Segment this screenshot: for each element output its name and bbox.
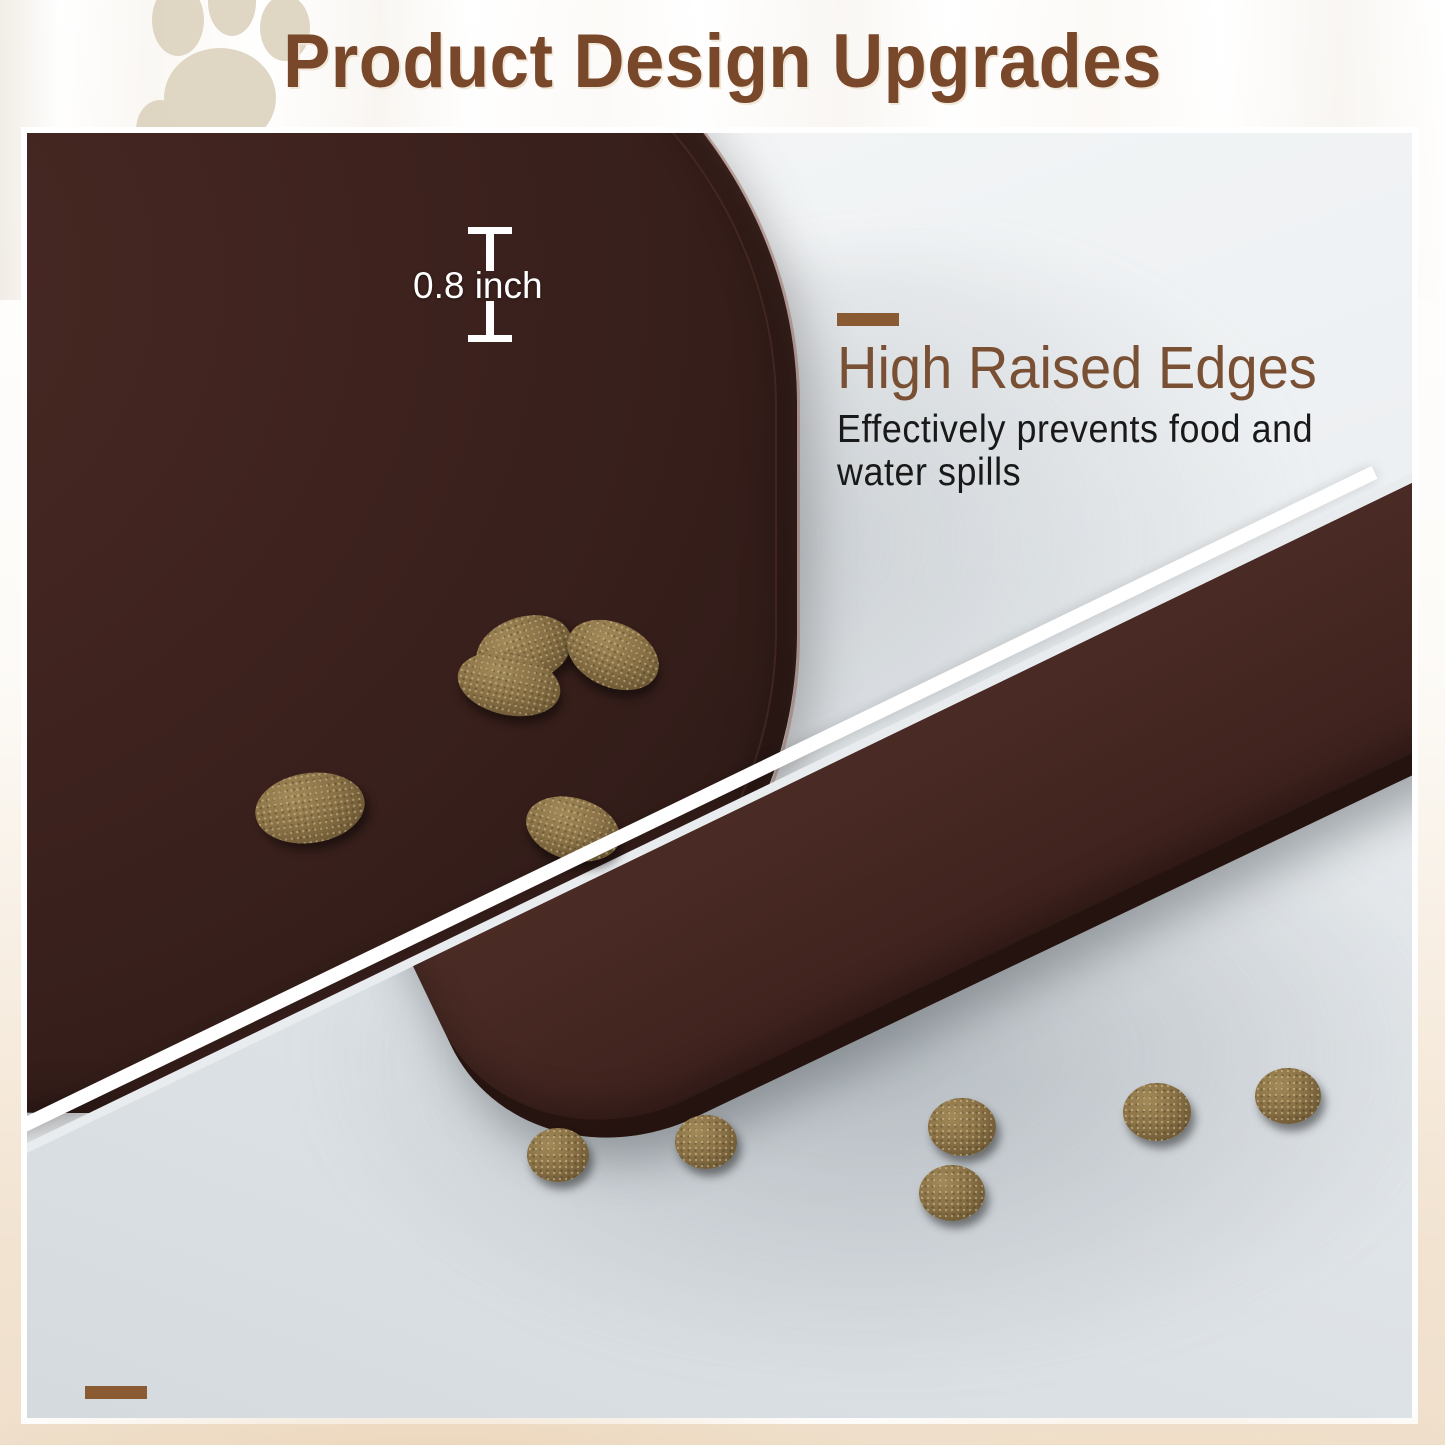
feature-subtext-line1: Effectively prevents food and water spil…: [837, 408, 1366, 495]
kibble-piece: [919, 1165, 985, 1221]
feature-heading: Keeping the floor clean: [85, 1410, 927, 1418]
page-title: Product Design Upgrades: [51, 18, 1395, 105]
accent-bar: [837, 313, 899, 326]
kibble-piece: [527, 1128, 589, 1182]
kibble-piece: [1255, 1068, 1321, 1124]
feature-heading-secondary-word: clean: [547, 1408, 688, 1418]
kibble-piece: [928, 1098, 996, 1156]
feature-block-floor-clean: Keeping the floor clean Minimizes time s…: [85, 1386, 972, 1418]
dimension-label: 0.8 inch: [413, 265, 543, 307]
feature-heading-secondary: [530, 1408, 546, 1418]
kibble-piece: [1123, 1083, 1191, 1141]
accent-bar: [85, 1386, 147, 1399]
dimension-callout: 0.8 inch: [444, 225, 594, 345]
feature-heading: High Raised Edges: [837, 337, 1383, 400]
feature-subtext: Effectively prevents food and water spil…: [837, 408, 1366, 495]
kibble-piece: [675, 1115, 737, 1169]
product-infographic: Product Design Upgrades 0.8 inch: [0, 0, 1445, 1445]
feature-block-raised-edges: High Raised Edges Effectively prevents f…: [837, 313, 1412, 495]
feature-heading-primary: Keeping the floor: [85, 1408, 530, 1418]
product-photo-frame: 0.8 inch smilool High Raised Edges: [27, 133, 1412, 1418]
